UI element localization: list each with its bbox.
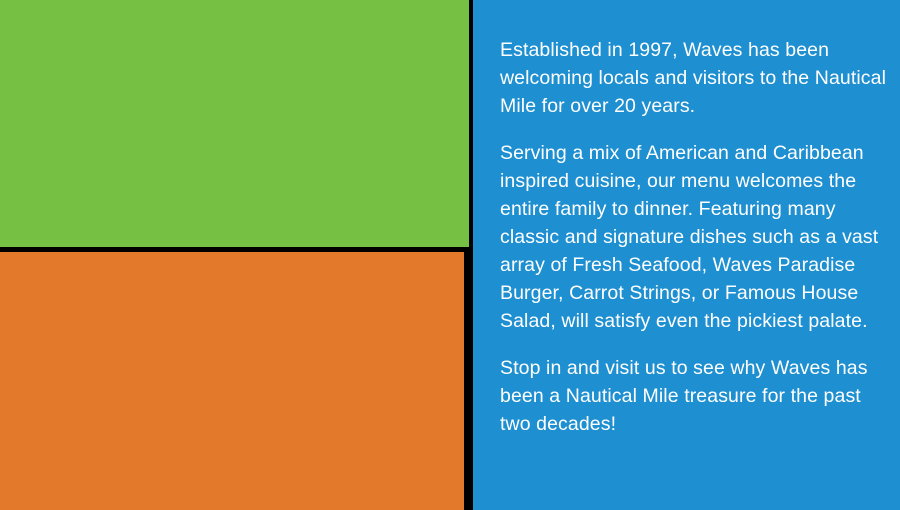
about-paragraph-2: Serving a mix of American and Caribbean … [500,139,886,335]
media-column [0,0,470,510]
image-placeholder-bottom [0,252,464,510]
about-info-panel: Established in 1997, Waves has been welc… [473,0,900,510]
about-paragraph-3: Stop in and visit us to see why Waves ha… [500,354,886,438]
page-root: Established in 1997, Waves has been welc… [0,0,900,510]
about-paragraph-1: Established in 1997, Waves has been welc… [500,36,886,120]
image-placeholder-top [0,0,469,247]
